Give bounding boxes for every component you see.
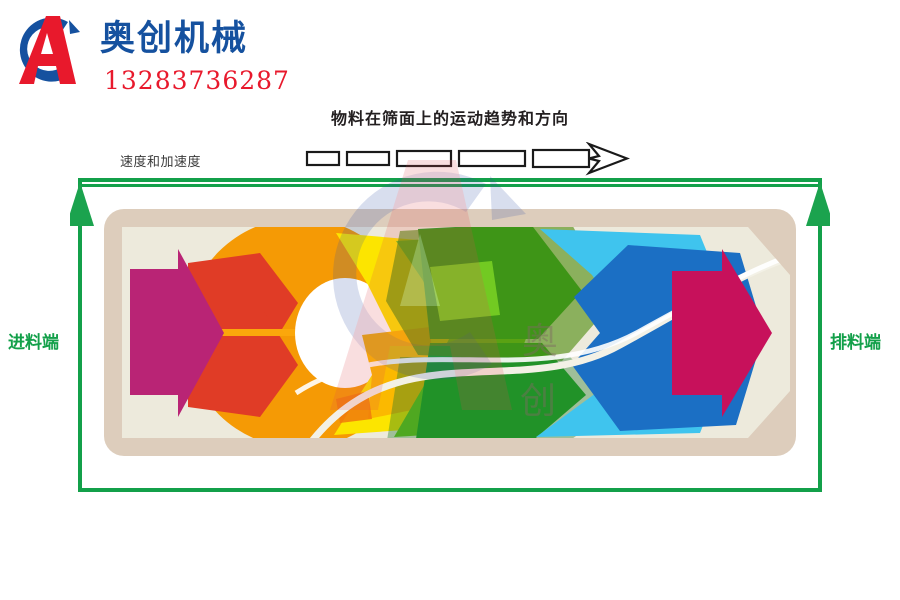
feed-end-label: 进料端 bbox=[8, 328, 59, 353]
aochuang-logo-watermark-icon bbox=[290, 160, 580, 430]
diagram-title: 物料在筛面上的运动趋势和方向 bbox=[0, 105, 900, 129]
green-up-arrow-left bbox=[70, 182, 94, 490]
discharge-end-label: 排料端 bbox=[830, 328, 881, 353]
brand-phone: 13283736287 bbox=[104, 68, 290, 93]
brand-header: 奥创机械 13283736287 bbox=[8, 8, 308, 104]
aochuang-a-c-monogram-icon bbox=[8, 10, 88, 90]
brand-name: 奥创机械 bbox=[100, 22, 248, 57]
diagram-canvas: 奥创机械 13283736287 物料在筛面上的运动趋势和方向 速度和加速度 进… bbox=[0, 0, 900, 600]
green-up-arrow-right bbox=[806, 182, 830, 490]
